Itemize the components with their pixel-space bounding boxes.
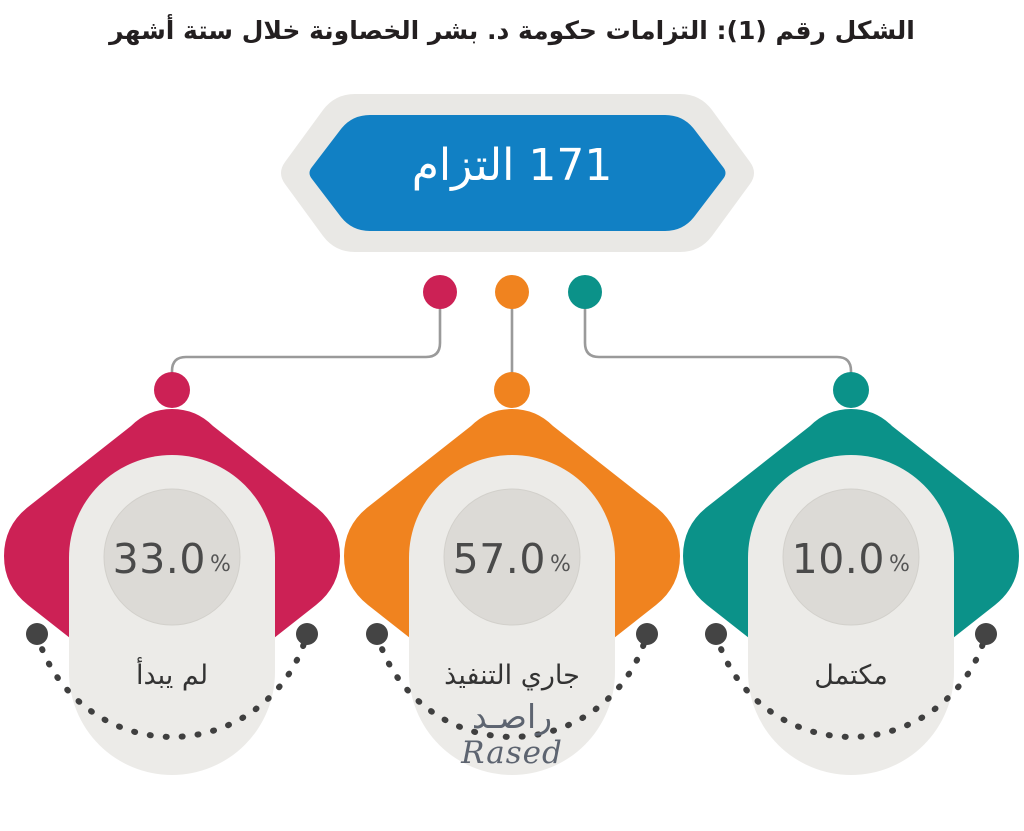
percent-completed: 10.0% xyxy=(741,535,961,583)
watermark-arabic: راصـد xyxy=(362,700,662,733)
card-arc-marker-left-completed xyxy=(705,623,727,645)
percent-value-completed: 10.0 xyxy=(792,535,885,583)
card-arc-marker-right-not-started xyxy=(296,623,318,645)
card-dot-in-progress xyxy=(494,372,530,408)
card-arc-marker-right-completed xyxy=(975,623,997,645)
watermark: راصـد Rased xyxy=(362,700,662,771)
card-label-in-progress: جاري التنفيذ xyxy=(362,660,662,691)
percent-symbol-completed: % xyxy=(889,552,910,577)
card-label-not-started: لم يبدأ xyxy=(22,660,322,691)
card-arc-marker-left-not-started xyxy=(26,623,48,645)
percent-value-in-progress: 57.0 xyxy=(453,535,546,583)
percent-in-progress: 57.0% xyxy=(402,535,622,583)
infographic-root: الشكل رقم (1): التزامات حكومة د. بشر الخ… xyxy=(0,0,1024,831)
connector-line-left xyxy=(172,296,440,390)
connector-dot-completed xyxy=(568,275,602,309)
card-arc-marker-left-in-progress xyxy=(366,623,388,645)
percent-symbol-not-started: % xyxy=(210,552,231,577)
header-label: 171 التزام xyxy=(312,140,712,191)
connector-dot-not-started xyxy=(423,275,457,309)
card-arc-marker-right-in-progress xyxy=(636,623,658,645)
percent-value-not-started: 33.0 xyxy=(113,535,206,583)
connector-dot-in-progress xyxy=(495,275,529,309)
connector-line-right xyxy=(585,296,851,390)
percent-symbol-in-progress: % xyxy=(550,552,571,577)
card-dot-completed xyxy=(833,372,869,408)
percent-not-started: 33.0% xyxy=(62,535,282,583)
card-dot-not-started xyxy=(154,372,190,408)
watermark-latin: Rased xyxy=(362,735,662,771)
card-label-completed: مكتمل xyxy=(701,660,1001,691)
